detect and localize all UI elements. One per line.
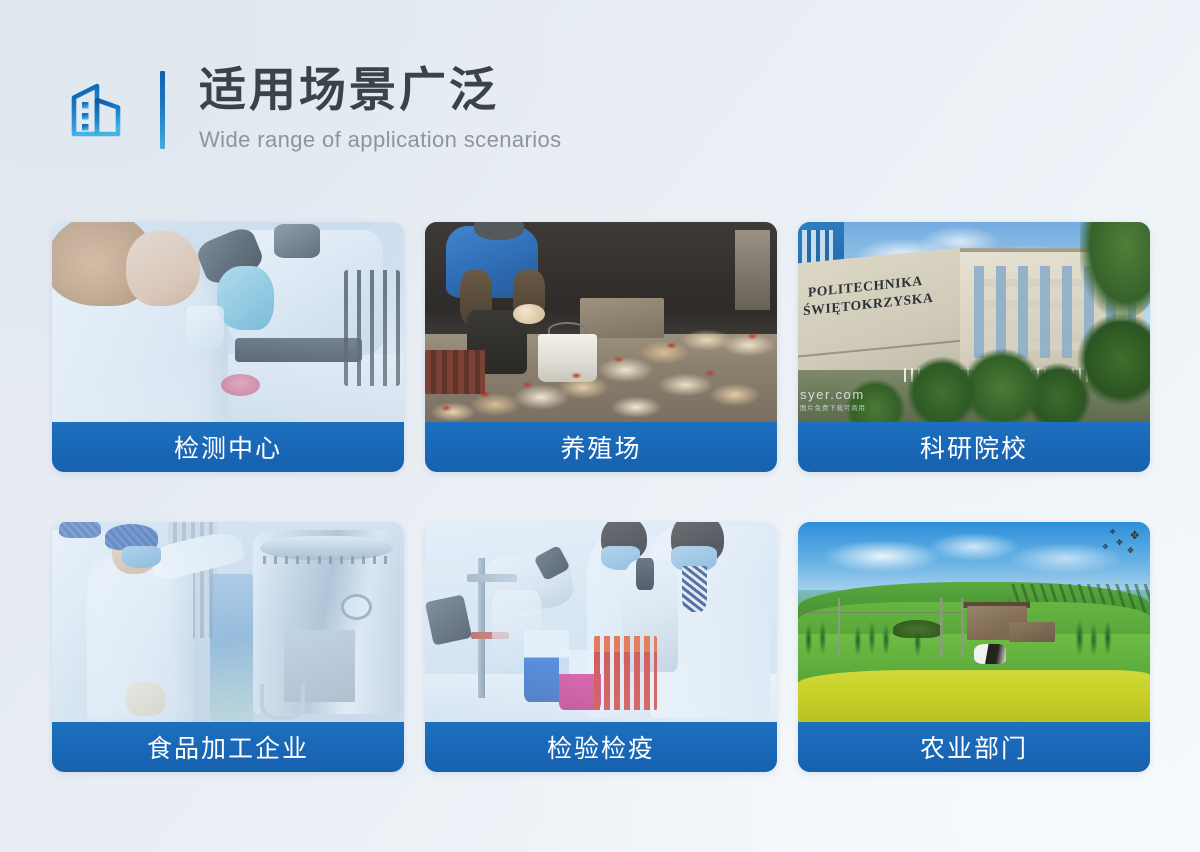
bird-icon: ✥ bbox=[1110, 529, 1116, 536]
bird-icon: ✥ bbox=[1116, 539, 1123, 547]
blue-building-windows bbox=[802, 230, 834, 264]
page-background: 适用场景广泛 Wide range of application scenari… bbox=[0, 0, 1200, 852]
lab-flask bbox=[186, 306, 225, 350]
cow bbox=[974, 644, 1006, 664]
card-photo-university-campus: POLITECHNIKA ŚWIĘTOKRZYSKA syer.com 图片免费… bbox=[798, 222, 1150, 422]
tank-bolts bbox=[263, 556, 390, 564]
worker-b-face-mask bbox=[122, 546, 161, 568]
header-titles: 适用场景广泛 Wide range of application scenari… bbox=[199, 67, 562, 152]
striped-tie bbox=[682, 566, 707, 612]
scientist-face bbox=[126, 230, 200, 306]
card-photo-inspection-lab bbox=[425, 522, 777, 722]
page-subtitle: Wide range of application scenarios bbox=[199, 127, 562, 152]
test-tube-caps bbox=[594, 636, 657, 652]
page-title: 适用场景广泛 bbox=[199, 67, 562, 117]
chicken-combs bbox=[425, 306, 777, 422]
scenario-card-agriculture-department[interactable]: ✥ ✥ ✥ ✥ ✥ 农业部门 bbox=[798, 522, 1150, 772]
card-label: 检测中心 bbox=[52, 422, 404, 472]
pipe-valve bbox=[260, 684, 306, 720]
pressure-gauge bbox=[341, 594, 373, 620]
microscope-stage bbox=[235, 338, 362, 362]
stand-clamp-upper bbox=[467, 574, 516, 582]
scene-inspection-lab bbox=[425, 522, 777, 722]
scene-poultry-farm bbox=[425, 222, 777, 422]
worker-a-hairnet bbox=[59, 522, 101, 538]
card-label: 检验检疫 bbox=[425, 722, 777, 772]
card-photo-poultry-farm bbox=[425, 222, 777, 422]
scenario-card-food-processing[interactable]: 食品加工企业 bbox=[52, 522, 404, 772]
microscope-tube bbox=[274, 224, 320, 258]
card-label: 养殖场 bbox=[425, 422, 777, 472]
scenario-card-research-institute[interactable]: POLITECHNIKA ŚWIĘTOKRZYSKA syer.com 图片免费… bbox=[798, 222, 1150, 472]
card-photo-lab-microscope bbox=[52, 222, 404, 422]
birds: ✥ ✥ ✥ ✥ ✥ bbox=[1051, 528, 1143, 560]
scene-lab-microscope bbox=[52, 222, 404, 422]
card-label: 农业部门 bbox=[798, 722, 1150, 772]
test-tube-rack bbox=[594, 642, 657, 710]
petri-dish bbox=[221, 374, 260, 396]
scenario-card-breeding-farm[interactable]: 养殖场 bbox=[425, 222, 777, 472]
scenario-card-grid: 检测中心 bbox=[52, 222, 1149, 772]
glass-column bbox=[210, 574, 252, 722]
blue-glove bbox=[217, 266, 273, 330]
bird-icon: ✥ bbox=[1130, 531, 1139, 542]
rapeseed-field bbox=[798, 670, 1150, 722]
scenario-card-inspection-quarantine[interactable]: 检验检疫 bbox=[425, 522, 777, 772]
bird-icon: ✥ bbox=[1127, 547, 1134, 555]
section-header: 适用场景广泛 Wide range of application scenari… bbox=[64, 56, 562, 164]
bird-icon: ✥ bbox=[1102, 544, 1108, 551]
lab-instrument bbox=[425, 594, 471, 645]
scene-farmland: ✥ ✥ ✥ ✥ ✥ bbox=[798, 522, 1150, 722]
building-icon bbox=[64, 74, 136, 146]
campus-trees bbox=[798, 310, 1150, 422]
card-label: 科研院校 bbox=[798, 422, 1150, 472]
scene-university-campus: POLITECHNIKA ŚWIĘTOKRZYSKA syer.com 图片免费… bbox=[798, 222, 1150, 422]
microscope-front-eyepiece bbox=[636, 558, 654, 590]
pipette-rack bbox=[344, 270, 400, 386]
card-label: 食品加工企业 bbox=[52, 722, 404, 772]
worker-head bbox=[474, 222, 523, 240]
scenario-card-detection-center[interactable]: 检测中心 bbox=[52, 222, 404, 472]
card-photo-farmland: ✥ ✥ ✥ ✥ ✥ bbox=[798, 522, 1150, 722]
card-photo-food-plant bbox=[52, 522, 404, 722]
header-divider bbox=[160, 71, 165, 149]
scene-food-processing-plant bbox=[52, 522, 404, 722]
worker-b-glove bbox=[126, 682, 165, 716]
